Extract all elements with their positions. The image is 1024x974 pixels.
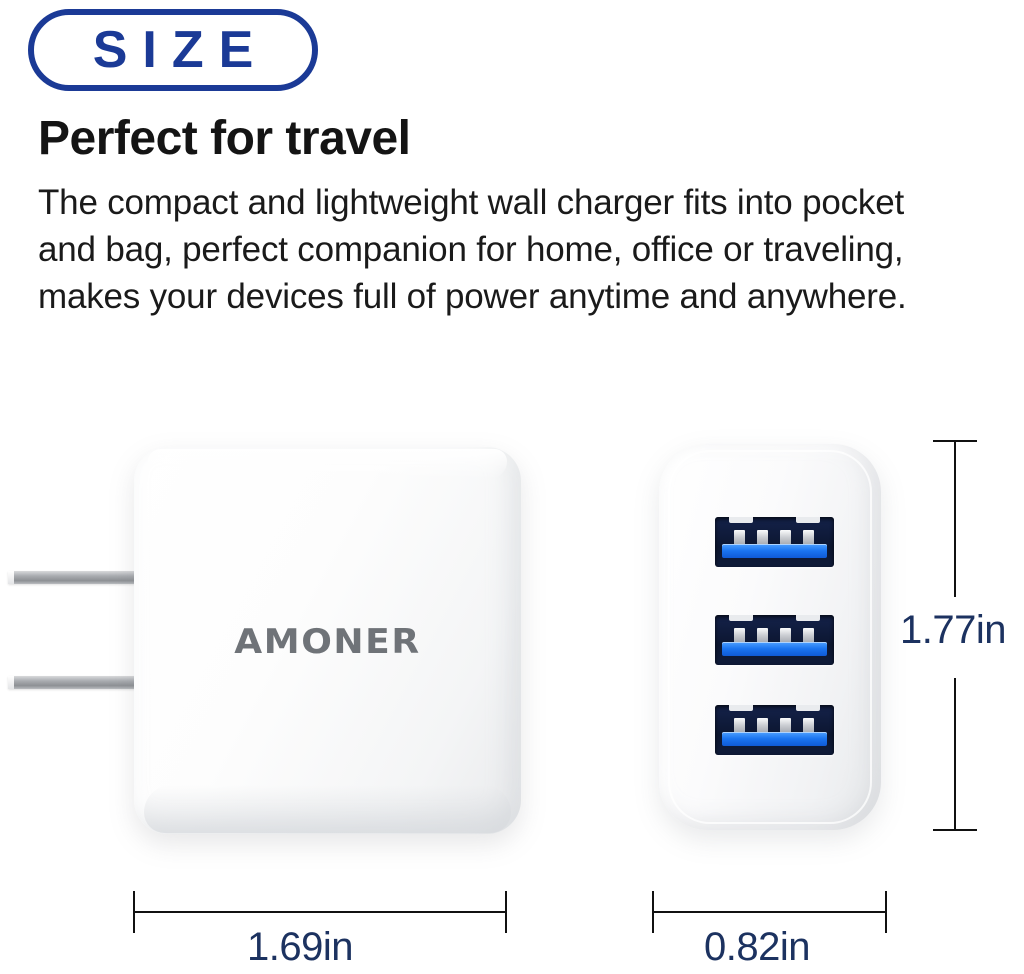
ac-prong-bottom-icon [8,676,142,689]
description-line-2: and bag, perfect companion for home, off… [38,227,988,274]
usb-notch-right [796,705,820,711]
dim-height-label: 1.77in [900,608,1006,653]
usb-notch-left [729,705,753,711]
usb-notch-left [729,615,753,621]
dim-width-side-cap-right [885,891,887,933]
usb-port-3-icon [715,705,834,755]
description-paragraph: The compact and lightweight wall charger… [38,180,988,321]
description-line-3: makes your devices full of power anytime… [38,274,988,321]
dim-width-front-cap-right [505,891,507,933]
usb-notch-right [796,615,820,621]
usb-port-1-icon [715,517,834,567]
dim-height-line-upper [954,441,956,597]
description-line-1: The compact and lightweight wall charger… [38,180,988,227]
dim-width-side-line [653,911,886,913]
page-title: Perfect for travel [38,112,411,166]
usb-notch-left [729,517,753,523]
dim-width-front-line [134,911,506,913]
wall-charger-front-image: AMONER [134,447,521,834]
dim-height-cap-bottom [933,829,977,831]
size-badge-label: SIZE [78,24,269,76]
dim-height-line-lower [954,678,956,830]
usb-port-2-icon [715,615,834,665]
ac-prong-top-icon [8,571,142,584]
dim-width-front-label: 1.69in [247,925,353,970]
infographic-canvas: SIZE Perfect for travel The compact and … [0,0,1024,974]
usb-notch-right [796,517,820,523]
brand-logo: AMONER [122,622,532,662]
usb-tongue-1 [722,544,827,558]
usb-tongue-3 [722,732,827,746]
size-badge: SIZE [28,9,318,91]
usb-tongue-2 [722,642,827,656]
dim-width-side-label: 0.82in [704,925,810,970]
wall-charger-ports-image [659,444,881,830]
